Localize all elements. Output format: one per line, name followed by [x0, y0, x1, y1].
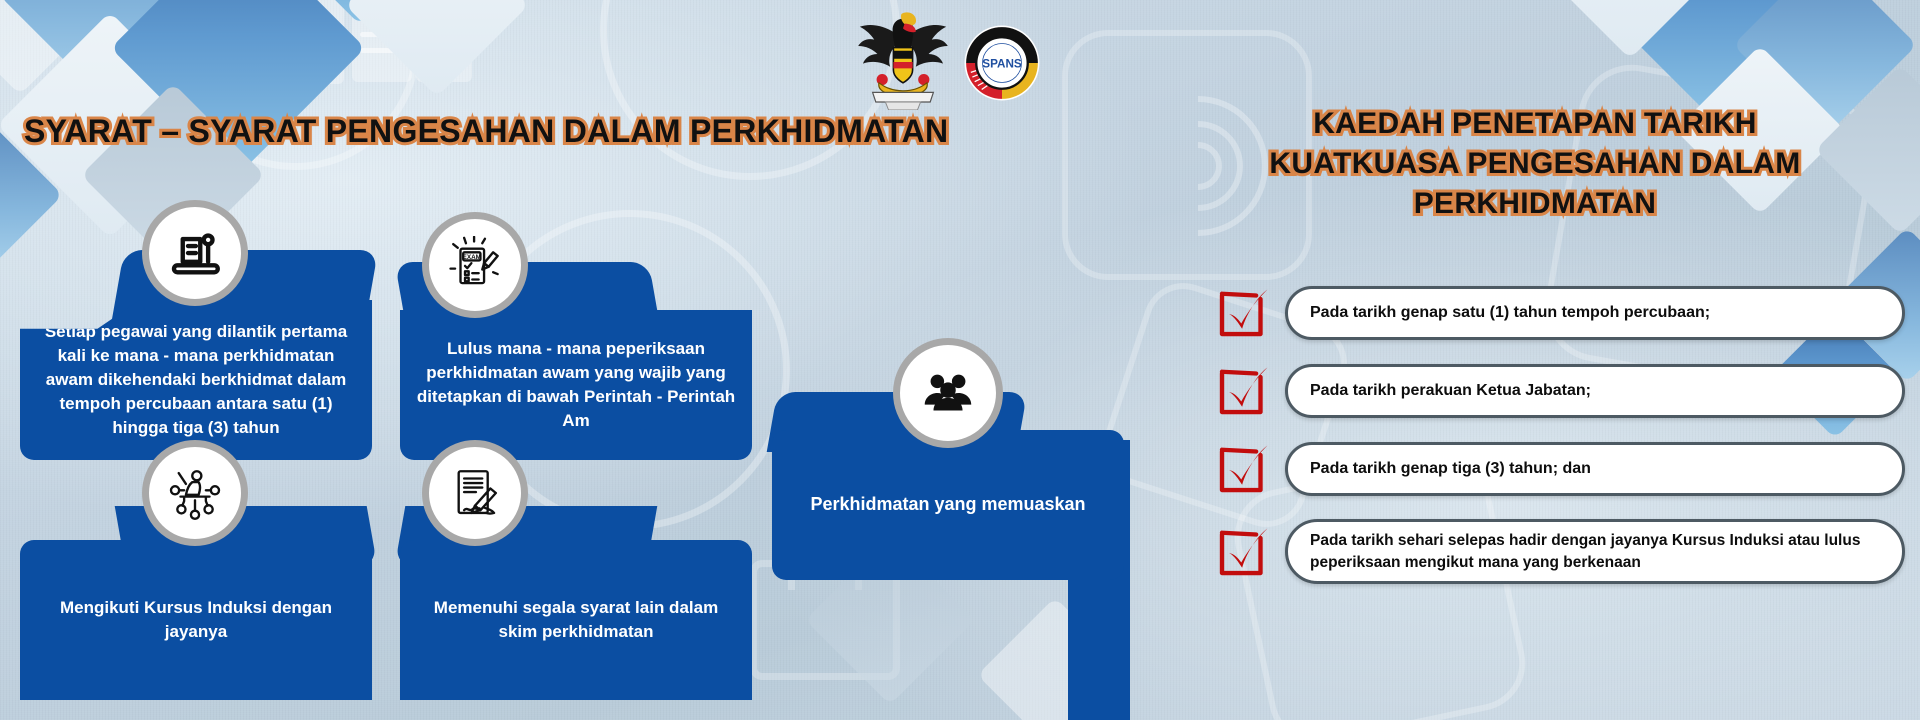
exam-paper-icon: EXAM — [446, 236, 504, 294]
condition-card-5-text: Perkhidmatan yang memuaskan — [786, 492, 1110, 518]
training-course-icon — [166, 464, 224, 522]
condition-card-1-text: Setiap pegawai yang dilantik pertama kal… — [34, 320, 358, 441]
checklist-item-text: Pada tarikh sehari selepas hadir dengan … — [1310, 530, 1880, 573]
checklist-row: Pada tarikh sehari selepas hadir dengan … — [1215, 519, 1905, 584]
checklist-item-pill[interactable]: Pada tarikh sehari selepas hadir dengan … — [1285, 519, 1905, 584]
checklist-item-text: Pada tarikh genap satu (1) tahun tempoh … — [1310, 302, 1710, 324]
method-checklist: Pada tarikh genap satu (1) tahun tempoh … — [1215, 285, 1905, 584]
condition-card-3-text: Mengikuti Kursus Induksi dengan jayanya — [34, 596, 358, 644]
checklist-row: Pada tarikh perakuan Ketua Jabatan; — [1215, 363, 1905, 419]
training-course-icon-bubble — [142, 440, 248, 546]
condition-card-3: Mengikuti Kursus Induksi dengan jayanya — [20, 540, 372, 700]
checklist-row: Pada tarikh genap tiga (3) tahun; dan — [1215, 441, 1905, 497]
condition-card-4-text: Memenuhi segala syarat lain dalam skim p… — [414, 596, 738, 644]
checklist-item-text: Pada tarikh perakuan Ketua Jabatan; — [1310, 380, 1591, 402]
red-checkmark-icon — [1215, 285, 1271, 341]
condition-card-5: Perkhidmatan yang memuaskan — [772, 430, 1124, 580]
condition-card-4: Memenuhi segala syarat lain dalam skim p… — [400, 540, 752, 700]
signing-document-icon — [446, 464, 504, 522]
spans-logo: SPANS — [963, 24, 1041, 102]
right-panel-title: KAEDAH PENETAPAN TARIKH KUATKUASA PENGES… — [1215, 104, 1855, 224]
signing-document-icon-bubble — [422, 440, 528, 546]
appointment-letter-icon — [167, 225, 223, 281]
group-people-icon-bubble — [893, 338, 1003, 448]
sarawak-state-crest — [855, 6, 951, 110]
svg-text:EXAM: EXAM — [463, 254, 481, 261]
red-checkmark-icon — [1215, 363, 1271, 419]
red-checkmark-icon — [1215, 441, 1271, 497]
condition-card-2: Lulus mana - mana peperiksaan perkhidmat… — [400, 310, 752, 460]
red-checkmark-icon — [1215, 524, 1271, 580]
logo-group: SPANS — [855, 6, 1041, 110]
spans-logo-text: SPANS — [982, 58, 1022, 71]
checklist-item-pill[interactable]: Pada tarikh perakuan Ketua Jabatan; — [1285, 364, 1905, 418]
group-people-icon — [917, 362, 979, 424]
checklist-item-pill[interactable]: Pada tarikh genap satu (1) tahun tempoh … — [1285, 286, 1905, 340]
checklist-item-pill[interactable]: Pada tarikh genap tiga (3) tahun; dan — [1285, 442, 1905, 496]
appointment-letter-icon-bubble — [142, 200, 248, 306]
checklist-row: Pada tarikh genap satu (1) tahun tempoh … — [1215, 285, 1905, 341]
left-panel-title: SYARAT – SYARAT PENGESAHAN DALAM PERKHID… — [24, 113, 948, 150]
exam-paper-icon-bubble: EXAM — [422, 212, 528, 318]
condition-card-2-text: Lulus mana - mana peperiksaan perkhidmat… — [414, 337, 738, 434]
checklist-item-text: Pada tarikh genap tiga (3) tahun; dan — [1310, 458, 1591, 480]
